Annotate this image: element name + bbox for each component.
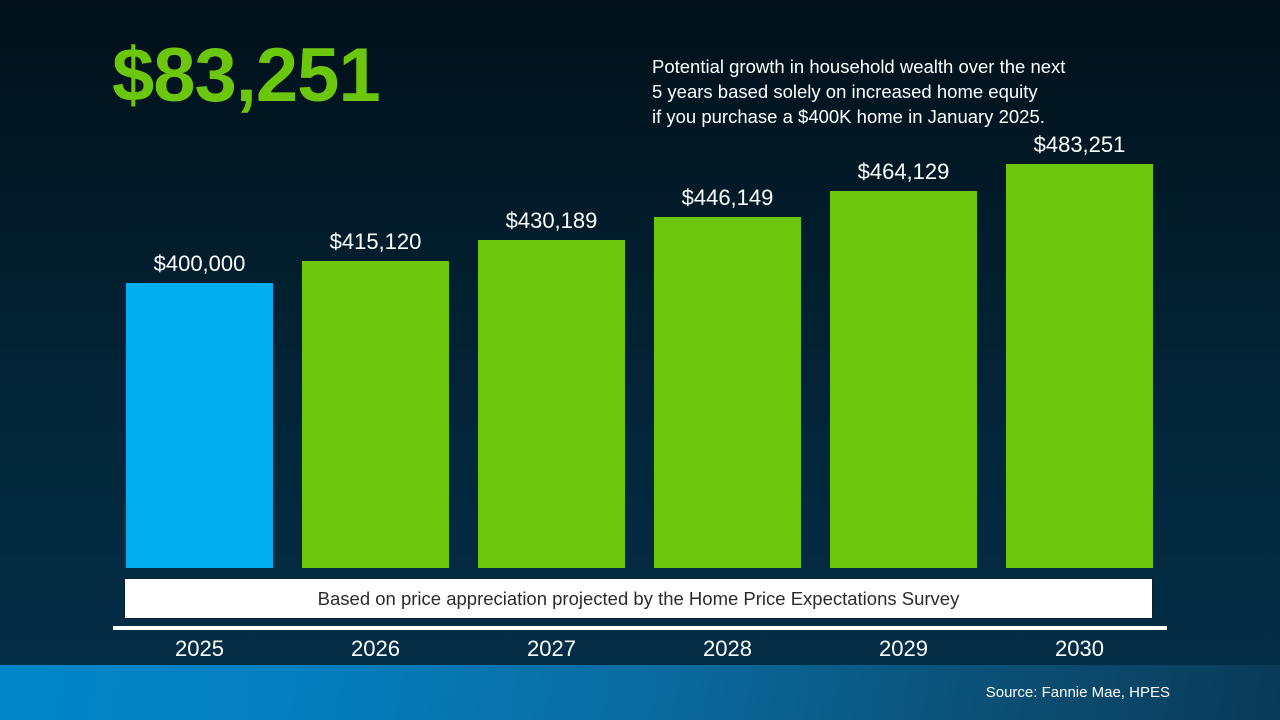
x-axis-tick-2028: 2028 [654, 636, 801, 662]
source-attribution: Source: Fannie Mae, HPES [986, 684, 1170, 701]
bar-2026[interactable] [302, 261, 449, 568]
x-axis-tick-2026: 2026 [302, 636, 449, 662]
bar-group-2027: $430,189 [478, 240, 625, 568]
x-axis-tick-2029: 2029 [830, 636, 977, 662]
x-axis-tick-2027: 2027 [478, 636, 625, 662]
bar-value-label-2028: $446,149 [654, 185, 801, 211]
x-axis-tick-2030: 2030 [1006, 636, 1153, 662]
x-axis-line [113, 626, 1167, 630]
slide-canvas: $83,251 Potential growth in household we… [0, 0, 1280, 720]
bar-group-2028: $446,149 [654, 217, 801, 568]
bar-value-label-2029: $464,129 [830, 159, 977, 185]
bar-value-label-2030: $483,251 [1006, 132, 1153, 158]
bar-2027[interactable] [478, 240, 625, 568]
bar-value-label-2026: $415,120 [302, 229, 449, 255]
bar-group-2030: $483,251 [1006, 164, 1153, 568]
bar-chart: $400,000$415,120$430,189$446,149$464,129… [0, 0, 1280, 660]
chart-annotation-banner: Based on price appreciation projected by… [124, 578, 1153, 619]
chart-annotation-text: Based on price appreciation projected by… [318, 588, 960, 610]
bar-2030[interactable] [1006, 164, 1153, 568]
bar-2029[interactable] [830, 191, 977, 568]
bar-value-label-2025: $400,000 [126, 251, 273, 277]
bar-group-2025: $400,000 [126, 283, 273, 568]
bar-2025[interactable] [126, 283, 273, 568]
bar-2028[interactable] [654, 217, 801, 568]
bar-group-2029: $464,129 [830, 191, 977, 568]
bar-group-2026: $415,120 [302, 261, 449, 568]
bar-value-label-2027: $430,189 [478, 208, 625, 234]
x-axis-tick-2025: 2025 [126, 636, 273, 662]
